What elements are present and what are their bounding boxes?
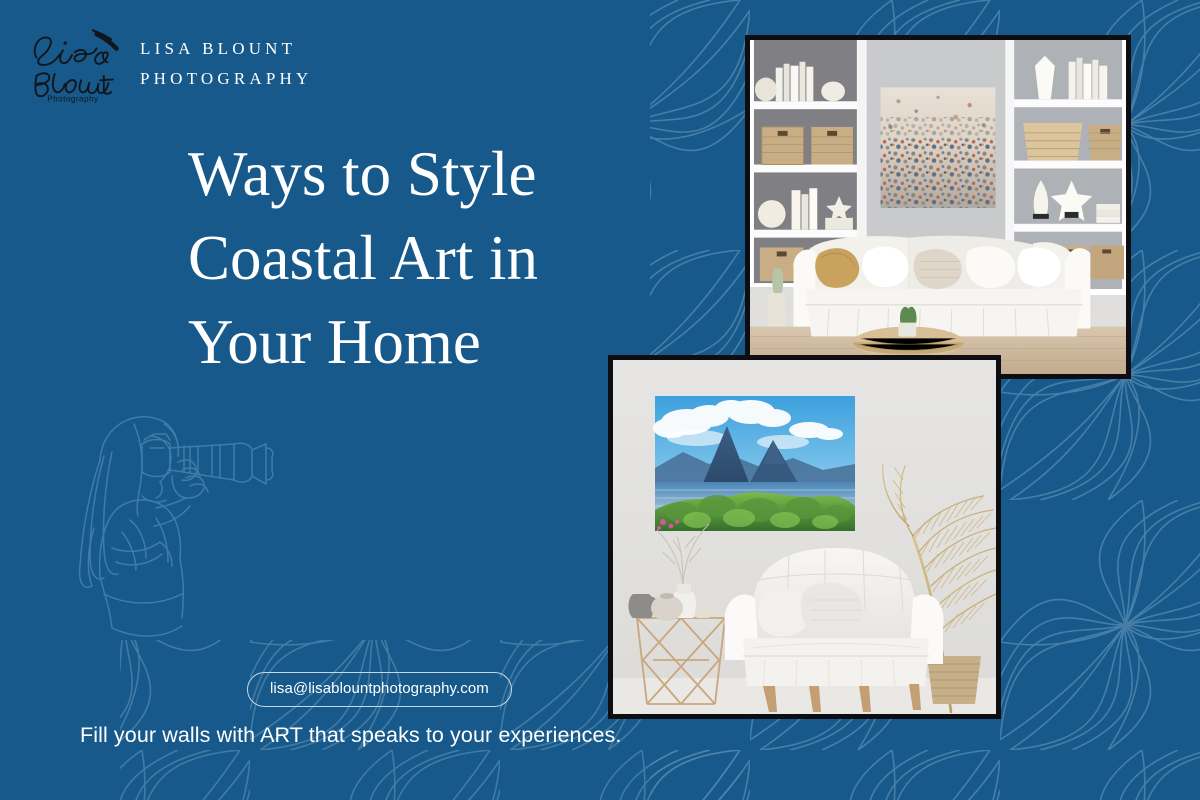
headline-line-2: Coastal Art in bbox=[188, 217, 628, 301]
tagline-text: Fill your walls with ART that speaks to … bbox=[80, 723, 621, 748]
photo-armchair-pitons-art bbox=[608, 355, 1001, 719]
poster-canvas: Photography LISA BLOUNT PHOTOGRAPHY Ways… bbox=[0, 0, 1200, 800]
photo-shelving-pebble-art bbox=[745, 35, 1131, 379]
lisa-blount-script-logo-icon: Photography bbox=[22, 24, 122, 104]
brand-lockup: Photography LISA BLOUNT PHOTOGRAPHY bbox=[22, 24, 312, 104]
email-contact-pill[interactable]: lisa@lisablountphotography.com bbox=[247, 672, 512, 707]
brand-line-2: PHOTOGRAPHY bbox=[140, 64, 312, 94]
headline-line-1: Ways to Style bbox=[188, 133, 628, 217]
brand-wordmark: LISA BLOUNT PHOTOGRAPHY bbox=[140, 34, 312, 94]
woman-photographer-line-art-icon bbox=[38, 398, 288, 648]
page-title: Ways to Style Coastal Art in Your Home bbox=[188, 133, 628, 384]
svg-text:Photography: Photography bbox=[47, 94, 99, 103]
headline-line-3: Your Home bbox=[188, 301, 628, 385]
brand-line-1: LISA BLOUNT bbox=[140, 34, 312, 64]
